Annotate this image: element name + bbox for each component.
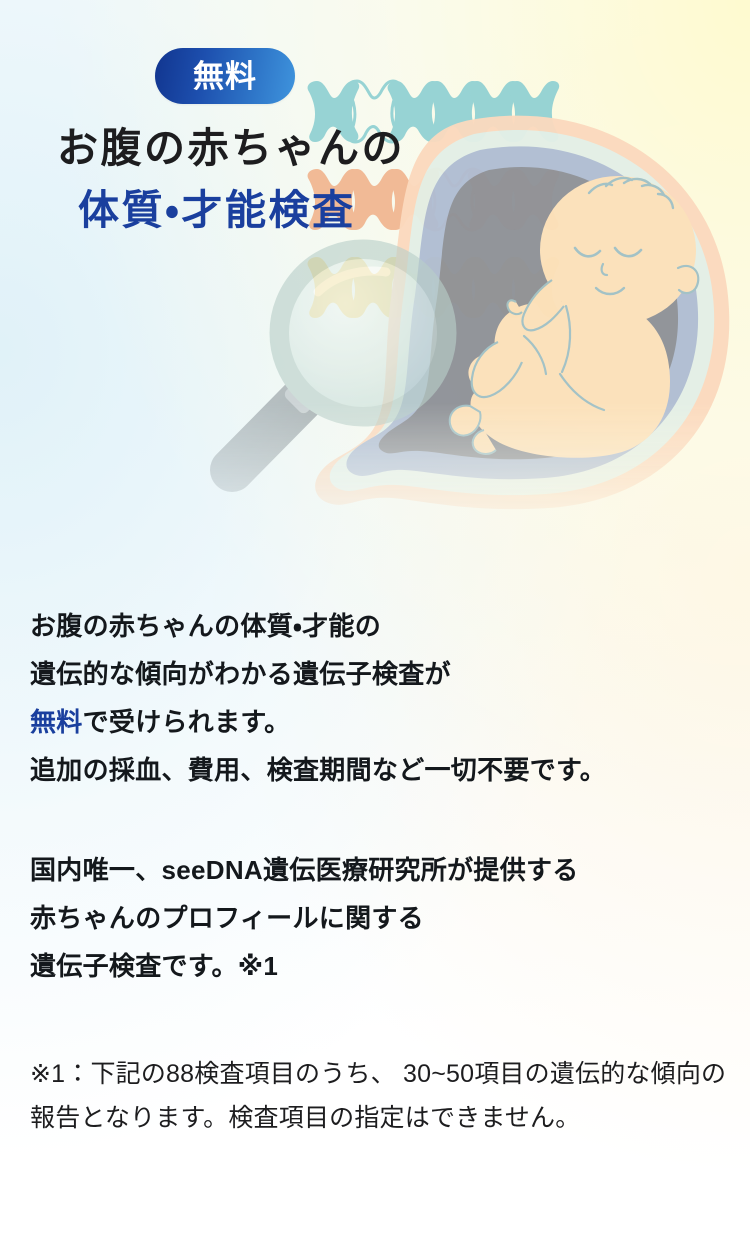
text-run: で受けられます。: [83, 707, 291, 737]
text-run: 国内唯一、seeDNA遺伝医療研究所が提供する: [30, 855, 579, 885]
paragraph-line: 国内唯一、seeDNA遺伝医療研究所が提供する: [30, 846, 730, 894]
text-run: お腹の赤ちゃんの体質・才能の: [30, 611, 381, 641]
paragraph-line: 無料で受けられます。: [30, 698, 730, 746]
paragraph-intro: お腹の赤ちゃんの体質・才能の遺伝的な傾向がわかる遺伝子検査が無料で受けられます。…: [30, 602, 730, 794]
paragraph-line: 遺伝子検査です。※1: [30, 942, 730, 990]
paragraph-line: お腹の赤ちゃんの体質・才能の: [30, 602, 730, 650]
footnote-note-1: ※1：下記の88検査項目のうち、 30~50項目の遺伝的な傾向の報告となります。…: [30, 1052, 730, 1140]
paragraph-line: 追加の採血、費用、検査期間など一切不要です。: [30, 746, 730, 794]
free-badge-label: 無料: [193, 61, 257, 92]
text-run: 赤ちゃんのプロフィールに関する: [30, 903, 424, 933]
text-run: 遺伝的な傾向がわかる遺伝子検査が: [30, 659, 451, 689]
paragraph-line: 赤ちゃんのプロフィールに関する: [30, 894, 730, 942]
accent-text: 無料: [30, 707, 83, 737]
hero-illustration: [0, 0, 750, 560]
page-title-line-2: 体質・才能検査: [0, 180, 750, 242]
page-title-line-1: お腹の赤ちゃんの: [0, 118, 750, 180]
paragraph-spacer: [30, 794, 730, 846]
free-badge: 無料: [155, 48, 295, 104]
paragraph-provider: 国内唯一、seeDNA遺伝医療研究所が提供する赤ちゃんのプロフィールに関する遺伝…: [30, 846, 730, 990]
paragraph-line: 遺伝的な傾向がわかる遺伝子検査が: [30, 650, 730, 698]
page-title: お腹の赤ちゃんの 体質・才能検査: [0, 118, 750, 241]
promo-page: 無料 お腹の赤ちゃんの 体質・才能検査 お腹の赤ちゃんの体質・才能の遺伝的な傾向…: [0, 0, 750, 1252]
text-run: 遺伝子検査です。※1: [30, 951, 278, 981]
text-run: 追加の採血、費用、検査期間など一切不要です。: [30, 755, 606, 785]
body-copy: お腹の赤ちゃんの体質・才能の遺伝的な傾向がわかる遺伝子検査が無料で受けられます。…: [30, 602, 730, 990]
